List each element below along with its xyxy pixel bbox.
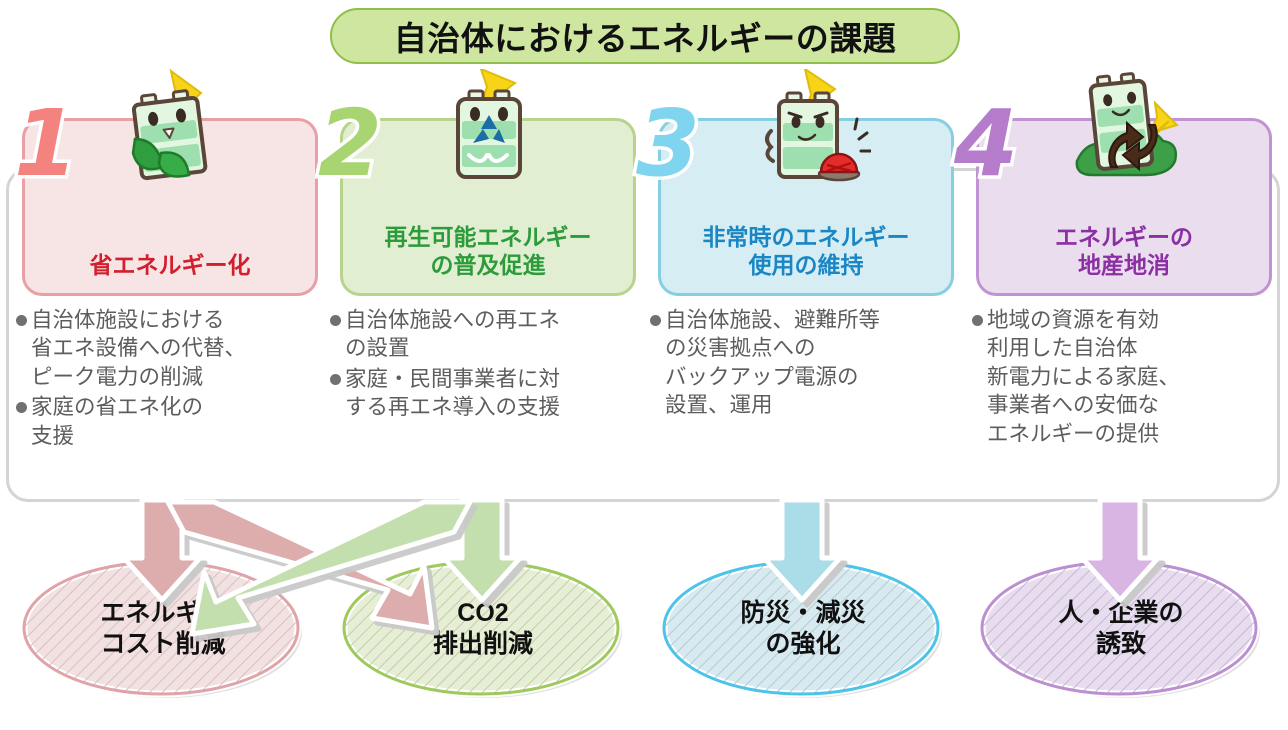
battery-with-recycle-icon [423,69,553,199]
bullet-column-2: 自治体施設への再エネ の設置 家庭・民間事業者に対 する再エネ導入の支援 [330,306,630,424]
page-title: 自治体におけるエネルギーの課題 [394,12,897,60]
page-title-pill: 自治体におけるエネルギーの課題 [330,8,960,64]
panel-1-label: 省エネルギー化 [25,251,315,279]
bullet-dot-icon [972,315,983,326]
outcome-energy-cost[interactable]: エネルギー コスト削減 [18,556,308,701]
panel-2-label: 再生可能エネルギー の普及促進 [343,223,633,279]
bullet-dot-icon [330,315,341,326]
bullet-dot-icon [16,402,27,413]
list-item: 家庭・民間事業者に対 する再エネ導入の支援 [330,365,630,422]
bullet-column-1: 自治体施設における 省エネ設備への代替、 ピーク電力の削減 家庭の省エネ化の 支… [16,306,316,452]
bullet-dot-icon [650,315,661,326]
outcome-attract-people-business[interactable]: 人・企業の 誘致 [976,556,1266,701]
bullet-column-3: 自治体施設、避難所等 の災害拠点への バックアップ電源の 設置、運用 [650,306,950,422]
panel-1-number: 1 [14,98,78,190]
list-item: 自治体施設、避難所等 の災害拠点への バックアップ電源の 設置、運用 [650,306,950,420]
panel-emergency-energy[interactable]: 非常時のエネルギー 使用の維持 [658,118,954,296]
battery-with-cycle-grass-icon [1059,69,1189,199]
bullet-text: 家庭の省エネ化の 支援 [31,393,203,450]
bullet-text: 自治体施設、避難所等 の災害拠点への バックアップ電源の 設置、運用 [665,306,880,420]
battery-with-alarm-icon [741,69,871,199]
list-item: 自治体施設への再エネ の設置 [330,306,630,363]
panel-4-label: エネルギーの 地産地消 [979,223,1269,279]
outcome-disaster-resilience[interactable]: 防災・減災 の強化 [658,556,948,701]
list-item: 地域の資源を有効 利用した自治体 新電力による家庭、 事業者への安価な エネルギ… [972,306,1272,448]
bullet-text: 自治体施設における 省エネ設備への代替、 ピーク電力の削減 [31,306,246,391]
bullet-text: 家庭・民間事業者に対 する再エネ導入の支援 [345,365,560,422]
list-item: 自治体施設における 省エネ設備への代替、 ピーク電力の削減 [16,306,316,391]
bullet-text: 地域の資源を有効 利用した自治体 新電力による家庭、 事業者への安価な エネルギ… [987,306,1180,448]
panel-renewable-energy[interactable]: 再生可能エネルギー の普及促進 [340,118,636,296]
bullet-dot-icon [16,315,27,326]
list-item: 家庭の省エネ化の 支援 [16,393,316,450]
outcome-co2-reduction[interactable]: CO2 排出削減 [338,556,628,701]
panel-4-number: 4 [954,98,1018,190]
panel-3-number: 3 [636,98,700,190]
battery-with-leaves-icon [105,69,235,199]
panel-3-label: 非常時のエネルギー 使用の維持 [661,223,951,279]
bullet-text: 自治体施設への再エネ の設置 [345,306,560,363]
panel-local-production[interactable]: エネルギーの 地産地消 [976,118,1272,296]
bullet-dot-icon [330,374,341,385]
panel-2-number: 2 [318,98,382,190]
bullet-column-4: 地域の資源を有効 利用した自治体 新電力による家庭、 事業者への安価な エネルギ… [972,306,1272,450]
infographic-root: 自治体におけるエネルギーの課題 省エネ [0,0,1288,730]
